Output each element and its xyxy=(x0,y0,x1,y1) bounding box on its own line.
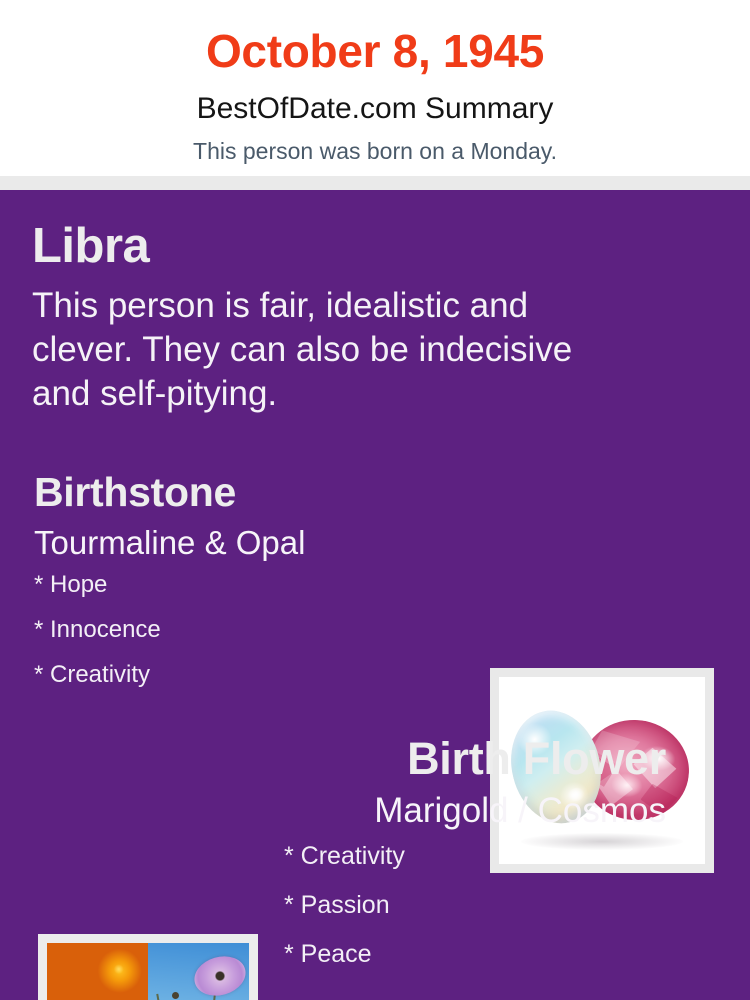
summary-body-panel: Libra This person is fair, idealistic an… xyxy=(0,190,750,1000)
zodiac-description: This person is fair, idealistic and clev… xyxy=(32,272,612,416)
marigold-photo-panel xyxy=(47,943,148,1000)
list-item: * Hope xyxy=(34,573,464,618)
cosmos-photo-panel xyxy=(148,943,249,1000)
birth-flower-heading: Birth Flower xyxy=(270,736,666,781)
flower-bud xyxy=(172,992,179,999)
birthstone-section: Birthstone Tourmaline & Opal * Hope * In… xyxy=(34,472,464,708)
page-title-date: October 8, 1945 xyxy=(0,0,750,74)
list-item: * Peace xyxy=(284,942,666,991)
birth-flower-trait-list: * Creativity * Passion * Peace xyxy=(270,828,666,991)
list-item: * Creativity xyxy=(284,844,666,893)
list-item: * Innocence xyxy=(34,618,464,663)
card-header: October 8, 1945 BestOfDate.com Summary T… xyxy=(0,0,750,176)
list-item: * Passion xyxy=(284,893,666,942)
site-name-subtitle: BestOfDate.com Summary xyxy=(0,74,750,124)
birthstone-name: Tourmaline & Opal xyxy=(34,513,464,559)
header-divider xyxy=(0,176,750,190)
cosmos-flower-icon xyxy=(190,950,249,1000)
birth-flower-image-frame xyxy=(38,934,258,1000)
birthstone-trait-list: * Hope * Innocence * Creativity xyxy=(34,559,464,708)
list-item: * Creativity xyxy=(34,663,464,708)
birth-weekday-note: This person was born on a Monday. xyxy=(0,124,750,163)
birth-flower-name: Marigold / Cosmos xyxy=(270,781,666,828)
summary-card: October 8, 1945 BestOfDate.com Summary T… xyxy=(0,0,750,1000)
zodiac-section: Libra This person is fair, idealistic an… xyxy=(32,222,652,416)
zodiac-sign-title: Libra xyxy=(32,222,652,272)
birth-flower-section: Birth Flower Marigold / Cosmos * Creativ… xyxy=(270,736,666,991)
birth-flower-image xyxy=(47,943,249,1000)
birthstone-heading: Birthstone xyxy=(34,472,464,513)
